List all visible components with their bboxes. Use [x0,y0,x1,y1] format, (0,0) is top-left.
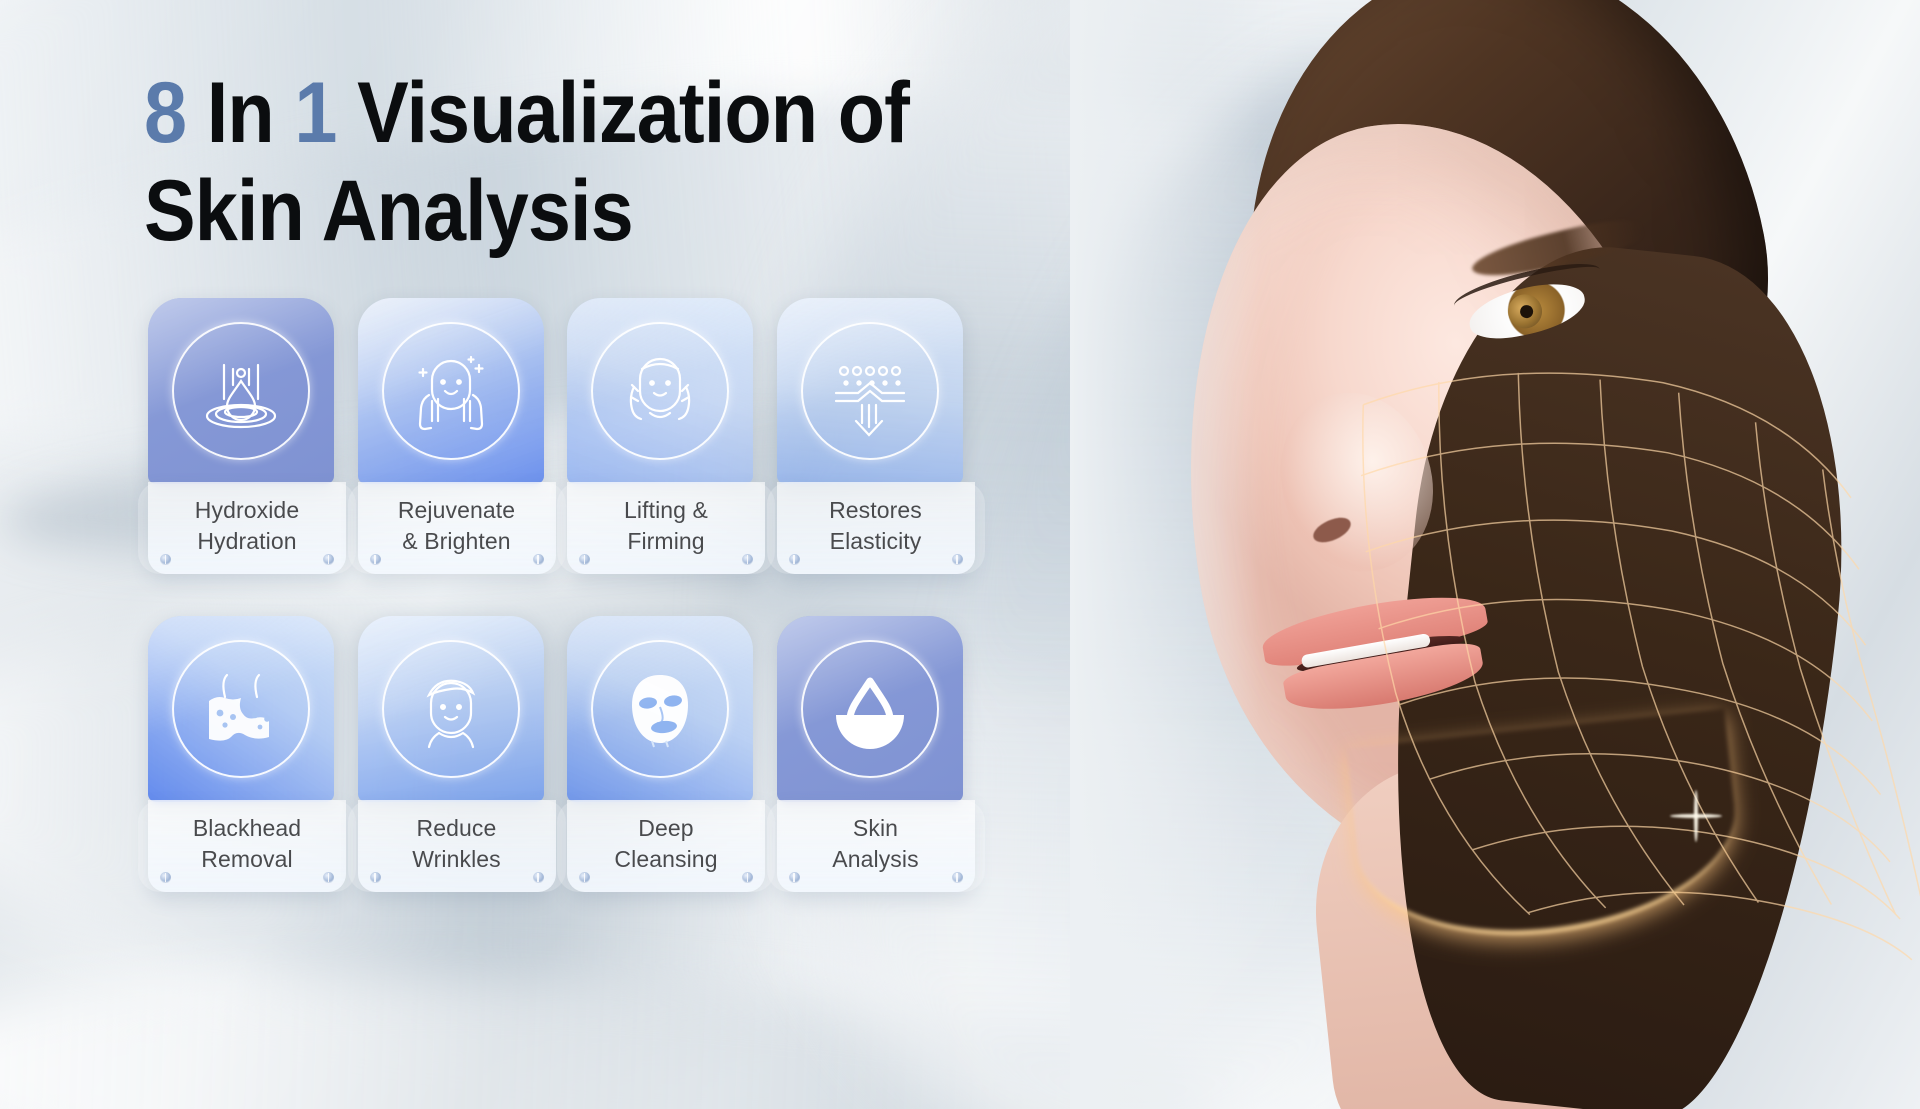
feature-label-line-1: Hydroxide [154,495,340,526]
screw-dot-left [789,554,800,565]
feature-label-line-2: & Brighten [364,526,550,557]
feature-icon-tile[interactable] [777,616,963,802]
headline-rest: Visualization of [337,65,909,161]
water-drop-ripple-icon [172,322,310,460]
feature-label-line-1: Rejuvenate [364,495,550,526]
headline: 8 In 1 Visualization of Skin Analysis [144,74,1044,250]
screw-dot-left [370,554,381,565]
screw-dot-right [323,554,334,565]
screw-dot-right [952,554,963,565]
feature-icon-tile[interactable] [148,298,334,484]
feature-label-line-2: Analysis [783,844,969,875]
screw-dot-right [742,554,753,565]
feature-label: Deep Cleansing [567,800,765,892]
screw-dot-left [370,872,381,883]
feature-card-0[interactable]: Hydroxide Hydration [148,298,358,574]
screw-dot-right [742,872,753,883]
sparkle-icon [1670,790,1722,842]
banner-canvas: 8 In 1 Visualization of Skin Analysis [0,0,1920,1109]
headline-line-1: 8 In 1 Visualization of [144,74,954,152]
feature-card-6[interactable]: Deep Cleansing [567,616,777,892]
headline-line-2: Skin Analysis [144,172,954,250]
sheet-mask-icon [591,640,729,778]
droplet-bowl-icon [801,640,939,778]
feature-icon-tile[interactable] [358,616,544,802]
screw-dot-right [533,554,544,565]
feature-card-2[interactable]: Lifting & Firming [567,298,777,574]
screw-dot-left [160,554,171,565]
screw-dot-right [323,872,334,883]
feature-label-line-1: Blackhead [154,813,340,844]
screw-dot-left [160,872,171,883]
feature-icon-tile[interactable] [567,616,753,802]
feature-label: Reduce Wrinkles [358,800,556,892]
feature-icon-tile[interactable] [777,298,963,484]
feature-icon-tile[interactable] [358,298,544,484]
screw-dot-right [952,872,963,883]
face-headband-icon [382,640,520,778]
screw-dot-left [579,872,590,883]
feature-icon-tile[interactable] [148,616,334,802]
feature-card-4[interactable]: Blackhead Removal [148,616,358,892]
feature-label-line-1: Deep [573,813,759,844]
skin-absorption-icon [801,322,939,460]
feature-label: Rejuvenate & Brighten [358,482,556,574]
feature-label: Skin Analysis [777,800,975,892]
feature-label-line-2: Elasticity [783,526,969,557]
feature-label-line-1: Restores [783,495,969,526]
pupil [1519,304,1534,319]
headline-number-8: 8 [144,65,186,161]
feature-label-line-1: Skin [783,813,969,844]
feature-label-line-1: Lifting & [573,495,759,526]
screw-dot-right [533,872,544,883]
feature-label: Blackhead Removal [148,800,346,892]
feature-label-line-2: Removal [154,844,340,875]
feature-card-7[interactable]: Skin Analysis [777,616,987,892]
headline-in: In [186,65,294,161]
feature-card-1[interactable]: Rejuvenate & Brighten [358,298,568,574]
screw-dot-left [579,554,590,565]
feature-row-2: Blackhead Removal [148,616,986,892]
feature-label: Hydroxide Hydration [148,482,346,574]
face-lifting-icon [591,322,729,460]
feature-label-line-2: Cleansing [573,844,759,875]
feature-label-line-2: Hydration [154,526,340,557]
feature-card-5[interactable]: Reduce Wrinkles [358,616,568,892]
feature-label: Lifting & Firming [567,482,765,574]
feature-label-line-2: Firming [573,526,759,557]
feature-label: Restores Elasticity [777,482,975,574]
feature-label-line-1: Reduce [364,813,550,844]
model-edge-fade [1070,0,1260,1109]
screw-dot-left [789,872,800,883]
feature-card-grid: Hydroxide Hydration [148,298,986,892]
feature-row-1: Hydroxide Hydration [148,298,986,574]
feature-card-3[interactable]: Restores Elasticity [777,298,987,574]
pore-follicle-icon [172,640,310,778]
face-hands-sparkle-icon [382,322,520,460]
feature-icon-tile[interactable] [567,298,753,484]
model-photo [1070,0,1920,1109]
headline-number-1: 1 [294,65,336,161]
feature-label-line-2: Wrinkles [364,844,550,875]
